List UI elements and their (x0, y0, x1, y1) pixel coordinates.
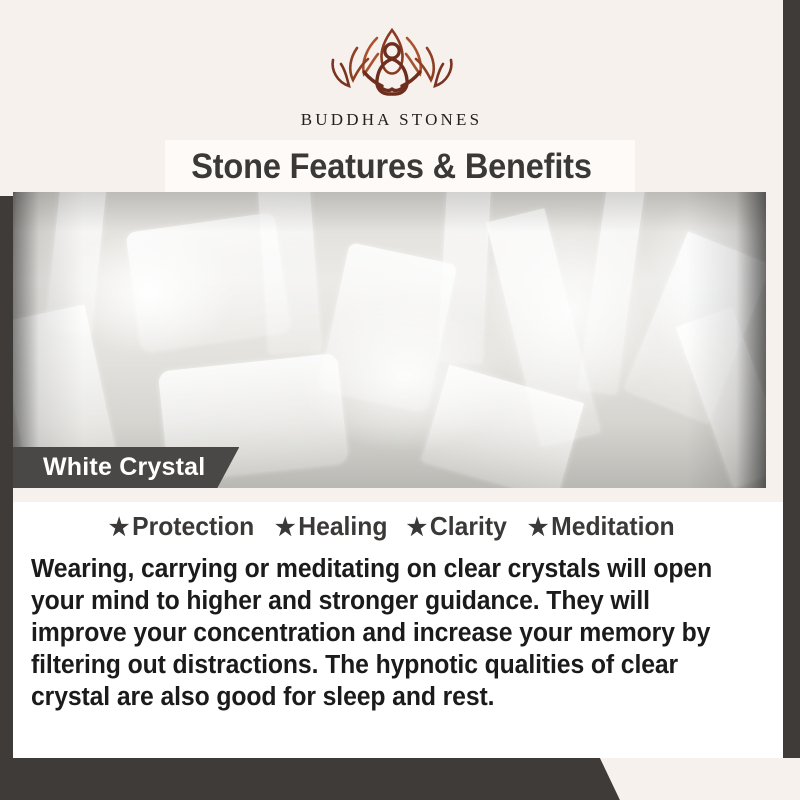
benefits-list: ★Protection★Healing★Clarity★Meditation (13, 511, 770, 542)
benefit-label: Meditation (551, 511, 675, 541)
lotus-meditation-icon (317, 24, 467, 106)
frame-left-accent (0, 196, 13, 800)
header: BUDDHA STONES (0, 0, 783, 140)
benefit-item: ★Healing (275, 511, 388, 542)
frame-right-accent (783, 0, 800, 800)
brand-name: BUDDHA STONES (0, 110, 783, 130)
star-icon: ★ (275, 514, 295, 541)
white-crystal-cluster-photo (13, 192, 766, 488)
stone-name-label: White Crystal (43, 453, 205, 482)
star-icon: ★ (528, 514, 548, 541)
brand-logo: BUDDHA STONES (0, 24, 783, 130)
benefit-item: ★Protection (109, 511, 254, 542)
benefit-label: Clarity (430, 511, 507, 541)
content-top-strip (13, 488, 783, 502)
frame-bottom-right-notch (600, 758, 800, 800)
content-area: ★Protection★Healing★Clarity★Meditation W… (13, 488, 783, 758)
description-paragraph: Wearing, carrying or meditating on clear… (31, 553, 739, 713)
benefit-label: Healing (298, 511, 387, 541)
star-icon: ★ (109, 514, 129, 541)
benefit-item: ★Clarity (407, 511, 507, 542)
star-icon: ★ (407, 514, 427, 541)
benefit-label: Protection (132, 511, 254, 541)
photo-vignette (13, 192, 766, 488)
stone-name-banner: White Crystal (13, 447, 239, 488)
page-title: Stone Features & Benefits (27, 140, 755, 194)
infographic-page: BUDDHA STONES Stone Features & Benefits … (0, 0, 800, 800)
benefit-item: ★Meditation (528, 511, 675, 542)
